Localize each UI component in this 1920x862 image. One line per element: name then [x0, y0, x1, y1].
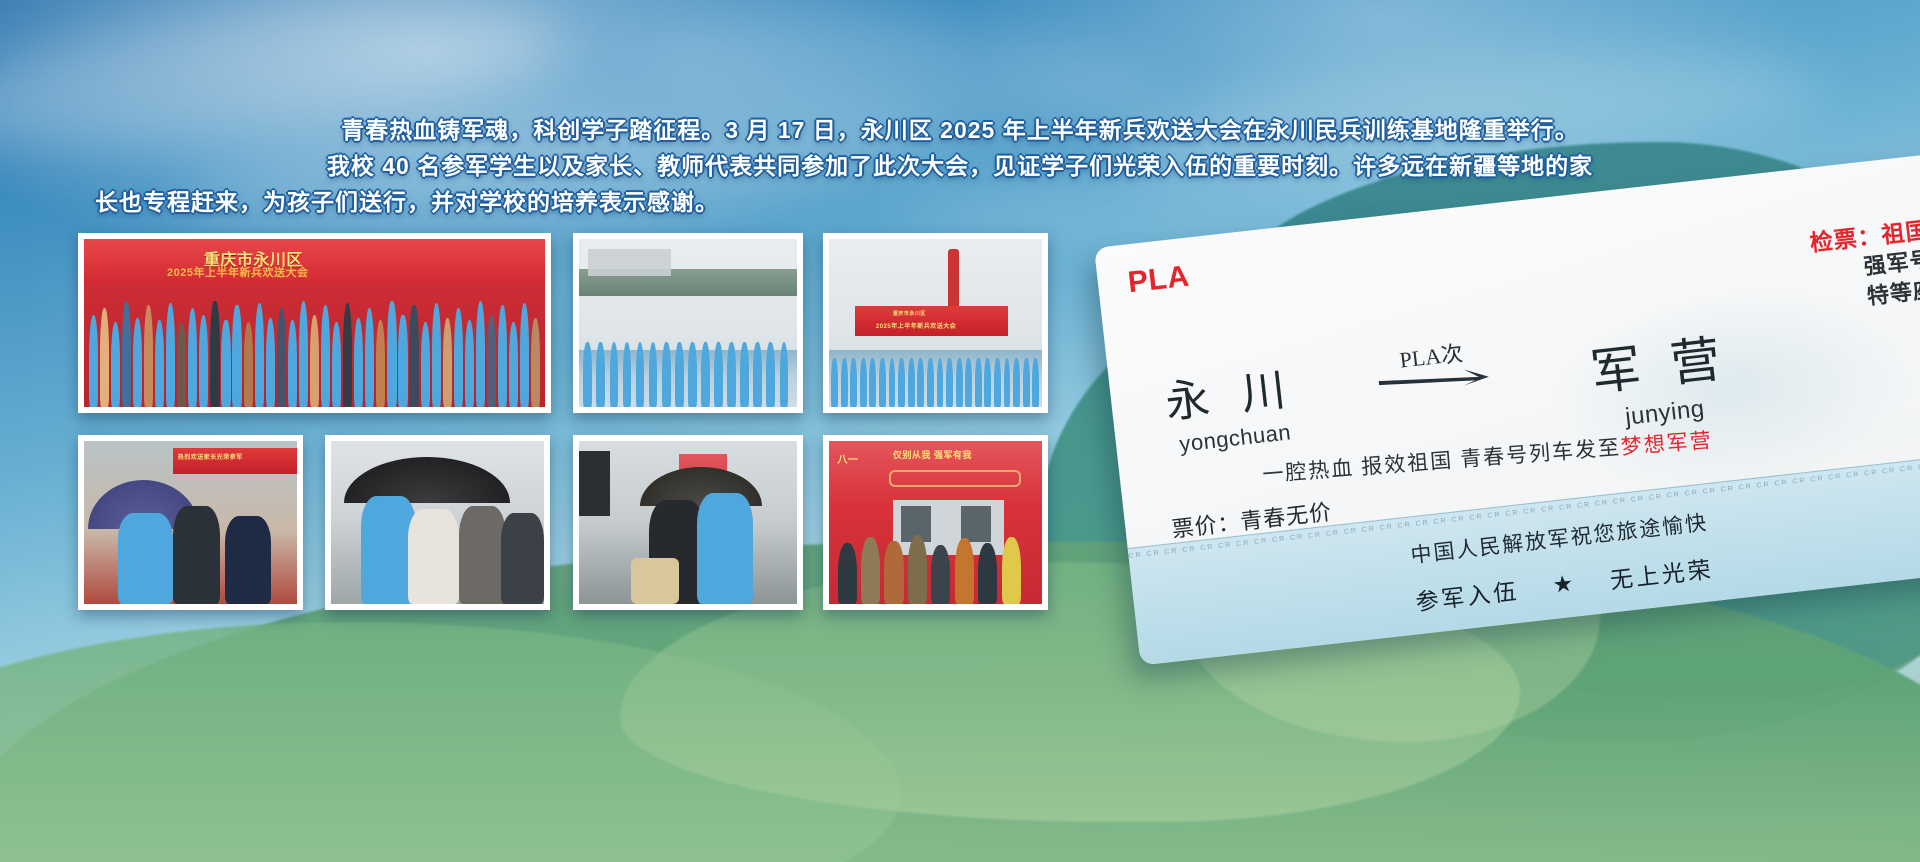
photo-arch-family-photo[interactable]: 仅别从我 强军有我 八一 — [823, 435, 1048, 610]
stage-banner-caption: 重庆市永川区 — [893, 310, 926, 317]
ticket-destination-cn: 军 营 — [1587, 318, 1732, 405]
person-bystander — [501, 513, 544, 604]
photo-image — [579, 239, 797, 407]
photo-group-photo-banner[interactable]: 重庆市永川区 2025年上半年新兵欢送大会 — [78, 233, 551, 413]
person-recruit — [118, 513, 173, 604]
photo-umbrella-farewell-photo[interactable]: 热烈欢送家长光荣参军 — [78, 435, 303, 610]
person-recruit — [697, 493, 754, 604]
headline-line-2: 我校 40 名参军学生以及家长、教师代表共同参加了此次大会，见证学子们光荣入伍的… — [0, 148, 1920, 184]
photo-image: 重庆市永川区 2025年上半年新兵欢送大会 — [84, 239, 545, 407]
crowd-family — [829, 526, 1042, 604]
photo-image — [579, 441, 797, 604]
ticket-origin-cn: 永 川 — [1162, 353, 1299, 431]
photo-image: 仅别从我 强军有我 八一 — [829, 441, 1042, 604]
star-icon: ★ — [1551, 571, 1577, 596]
stage-banner-caption-secondary: 2025年上半年新兵欢送大会 — [876, 321, 956, 330]
banner-strip — [84, 239, 545, 283]
crowd-row — [84, 286, 545, 407]
ticket-brand-label: PLA — [1126, 260, 1191, 301]
crowd-formation — [579, 303, 797, 407]
photo-couple-farewell-photo[interactable] — [573, 435, 803, 610]
person-parent — [173, 506, 220, 604]
headline-line-1: 青春热血铸军魂，科创学子踏征程。3 月 17 日，永川区 2025 年上半年新兵… — [0, 112, 1920, 148]
flower-basket — [631, 558, 679, 604]
flag-pole — [948, 249, 959, 313]
photo-image — [331, 441, 544, 604]
ticket-bottom-left-text: 参军入伍 — [1414, 572, 1521, 617]
ticket-slogan-highlight: 梦想军营 — [1620, 428, 1714, 459]
photo-black-umbrella-photo[interactable] — [325, 435, 550, 610]
person-child — [225, 516, 272, 604]
building — [588, 249, 671, 276]
banner-caption: 热烈欢送家长光荣参军 — [178, 452, 243, 461]
arch-outline — [889, 470, 1021, 486]
ticket-check-block: 检票：祖国 强军号 特等座 — [1808, 211, 1920, 318]
photo-image: 重庆市永川区 2025年上半年新兵欢送大会 — [829, 239, 1042, 407]
photo-stage-formation-photo[interactable]: 重庆市永川区 2025年上半年新兵欢送大会 — [823, 233, 1048, 413]
ticket-destination-station: 军 营 junying — [1587, 318, 1735, 435]
photo-image: 热烈欢送家长光荣参军 — [84, 441, 297, 604]
banner-caption-secondary: 2025年上半年新兵欢送大会 — [167, 264, 308, 280]
arch-caption-secondary: 八一 — [838, 451, 859, 466]
ticket-origin-station: 永 川 yongchuan — [1162, 353, 1302, 459]
ticket-bottom-right-text: 无上光荣 — [1608, 550, 1715, 595]
dark-banner — [579, 451, 610, 516]
arch-caption: 仅别从我 强军有我 — [893, 448, 972, 461]
photo-formation-rain-photo[interactable] — [573, 233, 803, 413]
crowd-formation — [829, 333, 1042, 407]
person-bystander — [459, 506, 506, 604]
ticket-train-number-block: PLA次 — [1375, 333, 1490, 395]
person-parent — [408, 509, 459, 604]
